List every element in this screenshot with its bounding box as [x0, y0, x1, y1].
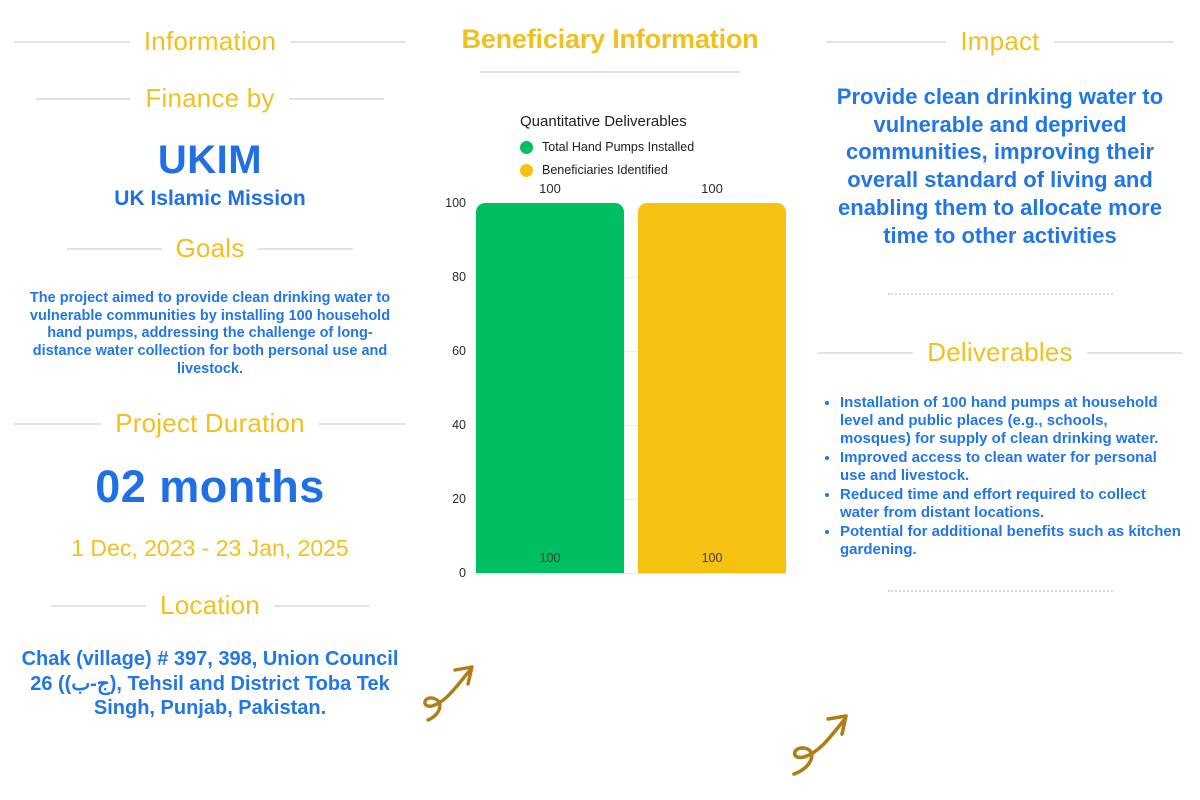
- heading-underline: [480, 71, 740, 73]
- bar-beneficiaries-identified[interactable]: 100 100: [638, 203, 786, 573]
- finance-by-block: Finance by UKIM UK Islamic Mission: [14, 83, 406, 211]
- deliverables-block: Deliverables Installation of 100 hand pu…: [818, 337, 1182, 560]
- divider-rule-right: [319, 423, 406, 425]
- divider-rule-left: [14, 41, 130, 43]
- divider-rule-left: [36, 98, 131, 100]
- heading-finance-by-label: Finance by: [145, 83, 274, 114]
- bar-top-value: 100: [476, 181, 624, 196]
- divider-rule-right: [258, 248, 353, 250]
- y-axis-tick: 60: [452, 344, 466, 358]
- divider-rule-right: [1054, 41, 1174, 43]
- bar-chart: 100 80 60 40 20 0 100 100: [434, 189, 794, 589]
- divider-rule-left: [818, 352, 913, 354]
- bar-group: 100 100 100 100: [476, 203, 786, 573]
- x-axis-baseline: [476, 573, 786, 574]
- heading-location-label: Location: [160, 590, 260, 621]
- information-column: Information Finance by UKIM UK Islamic M…: [0, 0, 420, 800]
- divider-rule-right: [290, 41, 406, 43]
- divider-rule-left: [67, 248, 162, 250]
- divider-rule-left: [826, 41, 946, 43]
- legend-swatch-yellow: [520, 164, 533, 177]
- y-axis-tick: 40: [452, 418, 466, 432]
- plot-area: 100 100 100 100: [476, 203, 786, 573]
- legend-item: Total Hand Pumps Installed: [520, 140, 694, 154]
- list-item: Improved access to clean water for perso…: [840, 449, 1182, 485]
- location-block: Location Chak (village) # 397, 398, Unio…: [14, 590, 406, 720]
- goals-block: Goals The project aimed to provide clean…: [14, 233, 406, 378]
- section-heading-goals: Goals: [14, 233, 406, 264]
- goals-paragraph: The project aimed to provide clean drink…: [14, 290, 406, 378]
- chart-legend: Total Hand Pumps Installed Beneficiaries…: [520, 140, 694, 177]
- section-heading-location: Location: [14, 590, 406, 621]
- y-axis-tick: 100: [445, 196, 466, 210]
- y-axis-tick: 0: [459, 566, 466, 580]
- heading-information-label: Information: [144, 26, 276, 57]
- section-heading-deliverables: Deliverables: [818, 337, 1182, 368]
- bar-slot: 100 100: [476, 203, 624, 573]
- list-item: Installation of 100 hand pumps at househ…: [840, 394, 1182, 448]
- divider-rule-left: [14, 423, 101, 425]
- y-axis: 100 80 60 40 20 0: [434, 203, 470, 573]
- dotted-divider-upper: [888, 293, 1113, 295]
- heading-deliverables-label: Deliverables: [927, 337, 1072, 368]
- section-heading-impact: Impact: [818, 26, 1182, 57]
- legend-item-label: Total Hand Pumps Installed: [542, 140, 694, 154]
- bar-inner-value: 100: [638, 551, 786, 565]
- beneficiary-information-column: Beneficiary Information Quantitative Del…: [420, 0, 800, 800]
- divider-rule-right: [289, 98, 384, 100]
- y-axis-tick: 20: [452, 492, 466, 506]
- duration-date-range: 1 Dec, 2023 - 23 Jan, 2025: [71, 535, 348, 562]
- bar-slot: 100 100: [638, 203, 786, 573]
- infographic-poster: Information Finance by UKIM UK Islamic M…: [0, 0, 1200, 800]
- chart-title: Quantitative Deliverables: [520, 113, 687, 130]
- heading-beneficiary-information: Beneficiary Information: [462, 24, 759, 55]
- location-address: Chak (village) # 397, 398, Union Council…: [14, 647, 406, 720]
- heading-impact-label: Impact: [960, 26, 1039, 57]
- heading-project-duration-label: Project Duration: [115, 408, 305, 439]
- dotted-divider-lower: [888, 590, 1113, 592]
- bar-total-hand-pumps-installed[interactable]: 100 100: [476, 203, 624, 573]
- divider-rule-right: [274, 605, 369, 607]
- list-item: Reduced time and effort required to coll…: [840, 486, 1182, 522]
- bar-top-value: 100: [638, 181, 786, 196]
- duration-value: 02 months: [95, 461, 325, 513]
- impact-deliverables-column: Impact Provide clean drinking water to v…: [800, 0, 1200, 800]
- legend-item-label: Beneficiaries Identified: [542, 163, 668, 177]
- section-heading-project-duration: Project Duration: [14, 408, 406, 439]
- legend-item: Beneficiaries Identified: [520, 163, 694, 177]
- y-axis-tick: 80: [452, 270, 466, 284]
- section-heading-information: Information: [14, 26, 406, 57]
- heading-goals-label: Goals: [176, 233, 245, 264]
- divider-rule-left: [51, 605, 146, 607]
- bar-inner-value: 100: [476, 551, 624, 565]
- funder-abbreviation: UKIM: [158, 138, 262, 183]
- deliverables-list: Installation of 100 hand pumps at househ…: [818, 394, 1182, 560]
- divider-rule-right: [1087, 352, 1182, 354]
- list-item: Potential for additional benefits such a…: [840, 523, 1182, 559]
- funder-full-name: UK Islamic Mission: [114, 187, 305, 211]
- legend-swatch-green: [520, 141, 533, 154]
- impact-paragraph: Provide clean drinking water to vulnerab…: [818, 83, 1182, 249]
- project-duration-block: Project Duration 02 months 1 Dec, 2023 -…: [14, 408, 406, 562]
- section-heading-finance-by: Finance by: [14, 83, 406, 114]
